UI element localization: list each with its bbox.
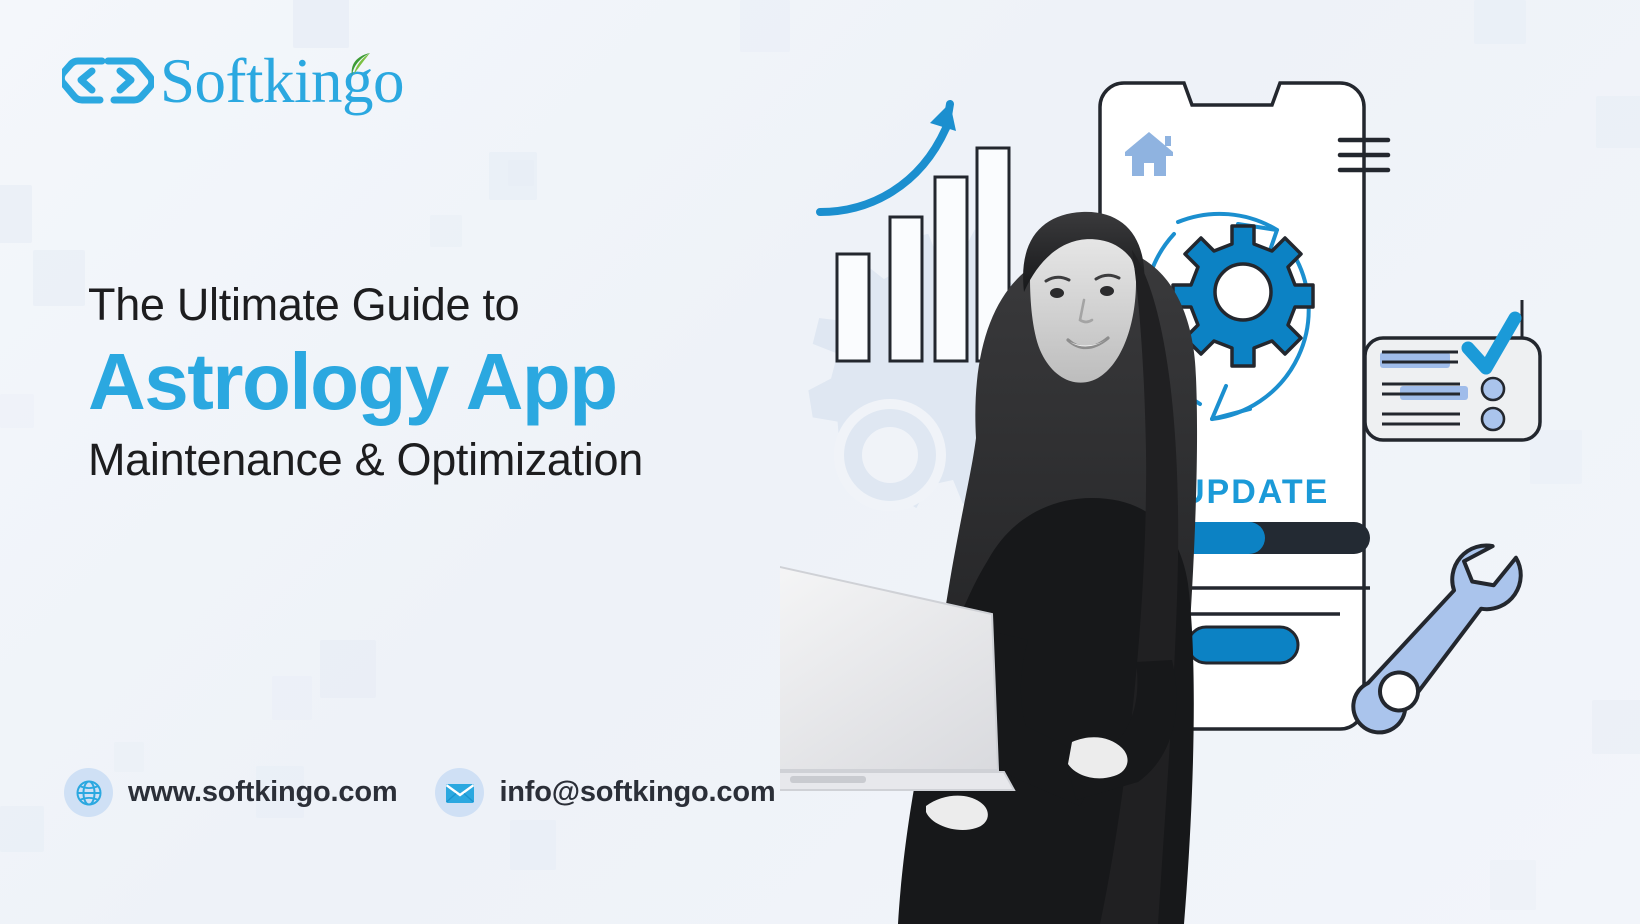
bg-square — [510, 820, 556, 870]
headline-line-2: Astrology App — [88, 337, 878, 427]
circle-checkbox-icon — [1482, 408, 1504, 430]
bg-square — [320, 640, 376, 698]
website-label: www.softkingo.com — [128, 776, 397, 809]
phone-cta-button — [1188, 627, 1298, 663]
bg-square — [508, 160, 534, 186]
bar-chart-group — [820, 103, 1009, 361]
checklist-card — [1365, 300, 1540, 440]
bar-2 — [890, 217, 922, 361]
bg-square — [489, 152, 537, 200]
highlight-block — [1380, 352, 1450, 368]
bg-square — [272, 676, 312, 720]
headline-line-1: The Ultimate Guide to — [88, 278, 878, 331]
gear-icon — [1173, 226, 1313, 366]
bar-3 — [935, 177, 967, 361]
contact-item-email[interactable]: info@softkingo.com — [435, 768, 775, 817]
update-label: UPDATE — [1180, 473, 1329, 511]
contact-item-website[interactable]: www.softkingo.com — [64, 768, 397, 817]
brand-logo[interactable]: Softkingo — [62, 50, 404, 113]
contact-bar: www.softkingo.com info@softkingo.com — [64, 768, 775, 817]
bg-square — [0, 185, 32, 243]
brand-wordmark: Softkingo — [160, 50, 404, 113]
leaf-icon — [348, 52, 372, 78]
bg-square — [293, 0, 349, 48]
bg-square — [0, 394, 34, 428]
illustration-group: UPDATE — [780, 0, 1640, 924]
headline-block: The Ultimate Guide to Astrology App Main… — [88, 278, 878, 486]
globe-icon — [64, 768, 113, 817]
envelope-icon — [435, 768, 484, 817]
laptop-trackpad — [790, 776, 866, 783]
circle-checkbox-icon — [1482, 378, 1504, 400]
wrench-icon — [1338, 542, 1536, 735]
headline-line-3: Maintenance & Optimization — [88, 433, 878, 486]
banner-root: Softkingo The Ultimate Guide to Astrolog… — [0, 0, 1640, 924]
email-label: info@softkingo.com — [499, 776, 775, 809]
bg-square — [33, 250, 85, 306]
bg-square — [0, 806, 44, 852]
code-brackets-icon — [62, 51, 154, 113]
bg-square — [430, 215, 462, 247]
illustration-svg: UPDATE — [780, 0, 1640, 924]
bar-1 — [837, 254, 869, 361]
